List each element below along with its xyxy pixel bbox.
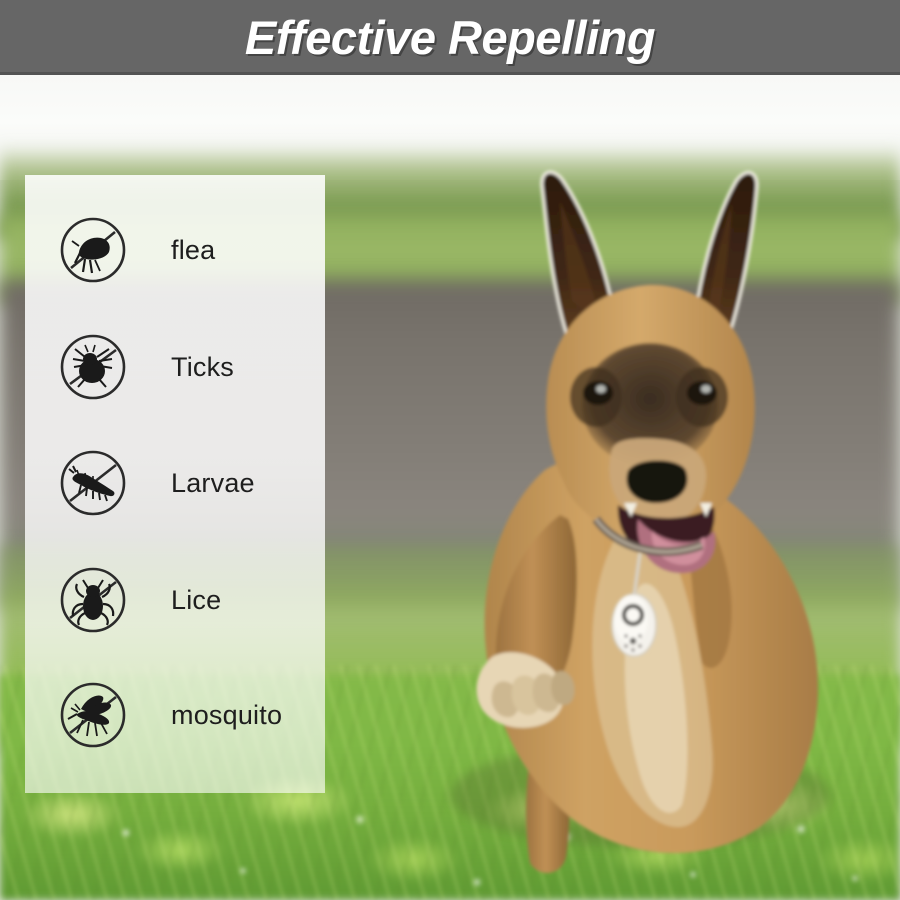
header-banner: Effective Repelling [0, 0, 900, 75]
no-flea-icon [59, 216, 127, 284]
pest-row-flea[interactable]: flea [25, 200, 325, 300]
pest-label: flea [171, 235, 215, 266]
pest-label: Larvae [171, 468, 255, 499]
pest-label: Ticks [171, 352, 234, 383]
no-tick-icon [59, 333, 127, 401]
no-lice-icon [59, 566, 127, 634]
no-larvae-icon [59, 449, 127, 517]
pest-row-lice[interactable]: Lice [25, 550, 325, 650]
pest-label: Lice [171, 585, 221, 616]
pest-list-panel: flea Ticks [25, 175, 325, 793]
page-title: Effective Repelling [0, 0, 900, 75]
pest-label: mosquito [171, 700, 282, 731]
product-marketing-image: flea Ticks [0, 0, 900, 900]
pest-row-mosquito[interactable]: mosquito [25, 665, 325, 765]
no-mosquito-icon [59, 681, 127, 749]
pest-row-larvae[interactable]: Larvae [25, 433, 325, 533]
pest-row-ticks[interactable]: Ticks [25, 317, 325, 417]
